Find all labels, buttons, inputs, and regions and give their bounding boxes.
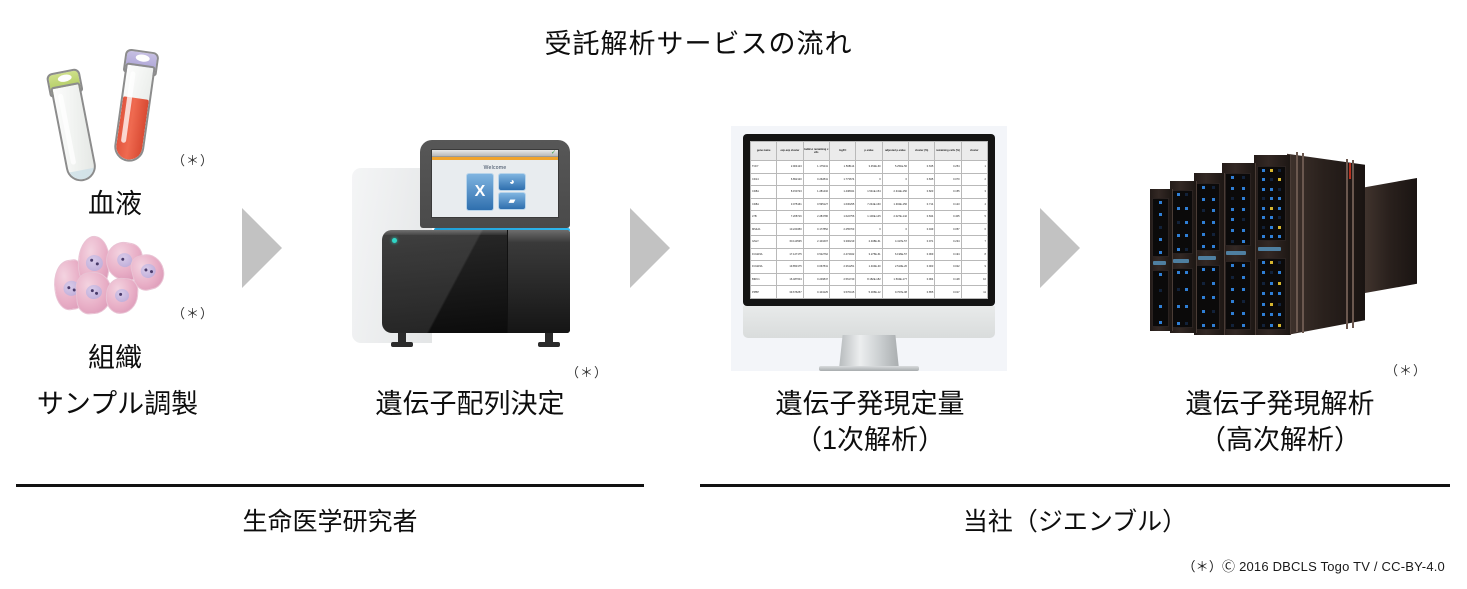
table-cell: 2.408E-61 xyxy=(856,236,882,249)
table-cell: 2.255763 xyxy=(829,223,855,236)
table-cell: 1.281432 xyxy=(803,186,829,199)
table-cell: 1 xyxy=(961,161,987,174)
table-cell: 0.855 xyxy=(908,286,934,299)
table-cell: 0 xyxy=(882,173,908,186)
table-cell: 0.104125 xyxy=(803,286,829,299)
table-cell: 5 xyxy=(961,211,987,224)
table-cell: 11 xyxy=(961,286,987,299)
rack-panel-lower xyxy=(1225,261,1251,330)
table-cell: 3.452E-60 xyxy=(856,161,882,174)
page-title: 受託解析サービスの流れ xyxy=(0,22,1467,61)
slide-canvas: 受託解析サービスの流れ （＊） 血液 xyxy=(0,0,1467,589)
table-cell: 0.194 xyxy=(935,248,961,261)
table-row: BIRC116.4876040.2468472.5617408.182E-182… xyxy=(751,273,988,286)
server-racks-illustration xyxy=(1150,145,1430,365)
table-cell: 3 xyxy=(961,186,987,199)
divider-company xyxy=(700,484,1450,487)
table-cell: 1.404E-30 xyxy=(856,261,882,274)
table-cell: 7.208716 xyxy=(777,211,803,224)
table-row: CD8A3.0751610.5951271.6302957.244E-1601.… xyxy=(751,198,988,211)
screen-accent-bar xyxy=(432,157,558,160)
table-row: MS4A110.2204500.1778522.255763000.9490.0… xyxy=(751,223,988,236)
step-label-sample-prep: サンプル調製 xyxy=(10,386,225,422)
table-cell: 0.595127 xyxy=(803,198,829,211)
monitor-bezel: gene nameexp.exp clusterbulk/sc remainin… xyxy=(743,134,995,306)
step-sublabel-expression-analysis: （高次解析） xyxy=(1155,422,1405,458)
dna-helix-icon[interactable]: X xyxy=(466,173,494,211)
step-sublabel-quantification: （1次解析） xyxy=(745,422,995,458)
tissue-cells-illustration xyxy=(48,232,176,318)
table-row: CD146.8921200.2628411.773674000.8450.070… xyxy=(751,173,988,186)
cell-nucleus xyxy=(85,284,102,299)
nucleolus-dot xyxy=(90,259,93,262)
table-cell: 1.541E-154 xyxy=(856,186,882,199)
table-col-header-7: remaining cells (%) xyxy=(935,142,961,161)
table-cell: 2 xyxy=(961,173,987,186)
table-cell: TCF7 xyxy=(751,161,777,174)
table-cell: 5.251E-56 xyxy=(882,161,908,174)
table-cell: 10 xyxy=(961,273,987,286)
blood-asterisk-mark: （＊） xyxy=(172,150,214,169)
table-cell: PPBP xyxy=(751,286,777,299)
tube-fill-blood xyxy=(115,96,149,161)
table-cell: 10.220450 xyxy=(777,223,803,236)
table-cell: 0.254 xyxy=(935,161,961,174)
table-cell: 0.949 xyxy=(908,223,934,236)
table-cell: 0.246847 xyxy=(803,273,829,286)
table-col-header-4: p-value xyxy=(856,142,882,161)
table-cell: 1.622756 xyxy=(829,211,855,224)
table-cell: 1.302E-156 xyxy=(882,198,908,211)
table-cell: 1.773674 xyxy=(829,173,855,186)
cell-nucleus xyxy=(85,254,104,272)
table-cell: 9 xyxy=(961,261,987,274)
rack-stripe xyxy=(1352,160,1354,328)
rack-panel-lower xyxy=(1257,258,1286,330)
table-cell: 0.022 xyxy=(935,261,961,274)
nucleolus-dot xyxy=(150,270,154,274)
table-cell: 2.561740 xyxy=(829,273,855,286)
step-label-quantification: 遺伝子発現定量 xyxy=(745,386,995,422)
sequencer-asterisk-mark: （＊） xyxy=(566,362,608,381)
table-cell: FCGR3A xyxy=(751,261,777,274)
credit-notice: （＊）Ⓒ 2016 DBCLS Togo TV / CC-BY-4.0 xyxy=(1182,556,1445,575)
table-cell: GNLY xyxy=(751,236,777,249)
table-cell: 60.113535 xyxy=(777,236,803,249)
rack-panel-upper xyxy=(1172,190,1193,254)
table-cell: 0.070 xyxy=(935,173,961,186)
table-cell: 0.262841 xyxy=(803,173,829,186)
rack-handle xyxy=(1258,247,1280,251)
table-cell: 1.100E-145 xyxy=(856,211,882,224)
table-cell: CD14 xyxy=(751,173,777,186)
table-cell: BIRC1 xyxy=(751,273,777,286)
cell-nucleus xyxy=(115,289,130,303)
table-cell: 0.969 xyxy=(908,248,934,261)
table-cell: 6.196E-57 xyxy=(882,248,908,261)
table-row: GNLY60.1135352.1016073.3002192.408E-614.… xyxy=(751,236,988,249)
table-row: PPBP39.6762570.1041253.5764155.305E-129.… xyxy=(751,286,988,299)
server-rack-2 xyxy=(1222,163,1256,335)
table-cell: 0.177852 xyxy=(803,223,829,236)
server-rack-1 xyxy=(1254,155,1291,335)
table-cell: 0.234 xyxy=(935,236,961,249)
table-cell: 8.182E-182 xyxy=(856,273,882,286)
table-cell: 0.903 xyxy=(908,261,934,274)
table-cell: 0.522762 xyxy=(803,248,829,261)
tissue-asterisk-mark: （＊） xyxy=(172,303,214,322)
table-cell: 0.123 xyxy=(935,198,961,211)
table-cell: 0 xyxy=(882,223,908,236)
rack-panel-lower xyxy=(1196,265,1220,330)
table-cell: 0 xyxy=(856,173,882,186)
table-header-row: gene nameexp.exp clusterbulk/sc remainin… xyxy=(751,142,988,161)
blood-label: 血液 xyxy=(40,186,190,222)
screen-tiles: X ◕ ▰ xyxy=(432,173,558,213)
table-cell: 1.504E-177 xyxy=(882,273,908,286)
server-rack-back xyxy=(1365,178,1417,293)
rack-stripe xyxy=(1296,152,1298,332)
table-cell: 2.101607 xyxy=(803,236,829,249)
results-monitor-illustration: gene nameexp.exp clusterbulk/sc remainin… xyxy=(731,126,1007,371)
table-col-header-3: logFC xyxy=(829,142,855,161)
rack-handle xyxy=(1198,256,1217,260)
table-cell: 2.284786 xyxy=(803,211,829,224)
table-cell: 0.128 xyxy=(935,273,961,286)
table-cell: 0.971 xyxy=(908,236,934,249)
owner-label-company: 当社（ジエンブル） xyxy=(700,502,1450,538)
table-row: TCF72.9041231.1752411.5081143.452E-605.2… xyxy=(751,161,988,174)
table-cell: 3.300219 xyxy=(829,236,855,249)
table-cell: 0.845 xyxy=(908,173,934,186)
table-col-header-5: adjusted p-value xyxy=(882,142,908,161)
table-cell: 3.576415 xyxy=(829,286,855,299)
table-cell: 0.964 xyxy=(908,273,934,286)
table-cell: 7.244E-160 xyxy=(856,198,882,211)
table-cell: LTB xyxy=(751,211,777,224)
table-col-header-6: cluster (%) xyxy=(908,142,934,161)
table-row: FCGR3A17.1271750.5227622.4749423.275E-61… xyxy=(751,248,988,261)
owner-label-researcher: 生命医学研究者 xyxy=(16,502,644,538)
nucleolus-dot xyxy=(119,293,122,296)
table-row: FCGR3A19.8531750.0678412.3612511.404E-30… xyxy=(751,261,988,274)
table-cell: 0.635 xyxy=(908,161,934,174)
monitor-chin xyxy=(743,306,995,338)
table-cell: 2.474942 xyxy=(829,248,855,261)
table-cell: 0.714 xyxy=(908,198,934,211)
rack-panel-upper xyxy=(1152,198,1170,258)
test-tube-purple-icon xyxy=(112,48,157,163)
table-cell: 2.361251 xyxy=(829,261,855,274)
table-cell: 2.510E-26 xyxy=(882,261,908,274)
table-cell: 0.823 xyxy=(908,186,934,199)
blood-sample-illustration xyxy=(52,48,182,173)
table-cell: CD8A xyxy=(751,198,777,211)
server-rack-5 xyxy=(1150,189,1173,331)
table-cell: 6 xyxy=(961,223,987,236)
table-cell: 16.487604 xyxy=(777,273,803,286)
servers-asterisk-mark: （＊） xyxy=(1385,360,1427,379)
table-cell: 4 xyxy=(961,198,987,211)
tube-body xyxy=(50,82,98,184)
rack-handle xyxy=(1226,251,1246,255)
table-cell: 0.017 xyxy=(935,286,961,299)
rack-stripe xyxy=(1346,159,1348,329)
sample-icon[interactable]: ◕ xyxy=(498,173,526,191)
table-cell: 3.075161 xyxy=(777,198,803,211)
table-cell: 1.508114 xyxy=(829,161,855,174)
table-cell: 39.676257 xyxy=(777,286,803,299)
cell-shape xyxy=(105,277,139,315)
test-tube-green-icon xyxy=(48,68,99,184)
table-cell: 3.275E-61 xyxy=(856,248,882,261)
flow-arrow-1-icon xyxy=(242,208,282,288)
nucleolus-dot xyxy=(91,289,94,292)
sequencer-touchscreen[interactable]: ✓ Welcome X ◕ ▰ xyxy=(431,149,559,218)
table-col-header-8: cluster xyxy=(961,142,987,161)
table-cell: 2.904123 xyxy=(777,161,803,174)
sequencer-gloss xyxy=(382,230,542,333)
nucleolus-dot xyxy=(144,268,148,272)
rack-panel-lower xyxy=(1152,270,1170,327)
nucleolus-dot xyxy=(96,262,99,265)
nucleolus-dot xyxy=(95,292,98,295)
rack-handle xyxy=(1153,261,1167,265)
table-cell: 2.341E-150 xyxy=(882,186,908,199)
table-cell: 2.027E-142 xyxy=(882,211,908,224)
table-row: LTB7.2087162.2847861.6227561.100E-1452.0… xyxy=(751,211,988,224)
nucleolus-dot xyxy=(67,286,70,289)
nucleolus-dot xyxy=(121,258,124,261)
table-col-header-0: gene name xyxy=(751,142,777,161)
monitor-stand-neck xyxy=(839,335,899,369)
table-cell: 0.405 xyxy=(935,211,961,224)
monitor-stand-base xyxy=(819,366,919,371)
sequencer-foot-left xyxy=(398,333,406,347)
table-col-header-2: bulk/sc remaining cells xyxy=(803,142,829,161)
divider-researcher xyxy=(16,484,644,487)
table-cell: 5.305E-12 xyxy=(856,286,882,299)
rack-alert-stripe xyxy=(1349,163,1351,179)
flow-arrow-2-icon xyxy=(630,208,670,288)
server-rack-3 xyxy=(1194,173,1225,335)
table-cell: 17.127175 xyxy=(777,248,803,261)
table-row: CD8A8.1507231.2814321.4380411.541E-1542.… xyxy=(751,186,988,199)
rack-panel-lower xyxy=(1172,268,1193,329)
tissue-label: 組織 xyxy=(40,340,190,376)
table-cell: MS4A1 xyxy=(751,223,777,236)
screen-titlebar: ✓ xyxy=(432,150,558,157)
table-cell: 0.057 xyxy=(935,223,961,236)
step-label-expression-analysis: 遺伝子発現解析 xyxy=(1155,386,1405,422)
helix-glyph: X xyxy=(475,184,486,200)
table-cell: 8.150723 xyxy=(777,186,803,199)
table-cell: 1.630295 xyxy=(829,198,855,211)
table-cell: FCGR3A xyxy=(751,248,777,261)
table-cell: 8 xyxy=(961,248,987,261)
expression-results-table: gene nameexp.exp clusterbulk/sc remainin… xyxy=(750,141,988,299)
sequencer-foot-right xyxy=(545,333,553,347)
flow-arrow-3-icon xyxy=(1040,208,1080,288)
table-cell: 0.844 xyxy=(908,211,934,224)
table-cell: 1.175241 xyxy=(803,161,829,174)
screen-welcome-text: Welcome xyxy=(432,165,558,171)
sequencer-power-led-icon xyxy=(392,238,397,243)
table-cell: 9.707E-08 xyxy=(882,286,908,299)
sequencer-body xyxy=(382,230,570,333)
rack-stripe xyxy=(1302,153,1304,333)
step-label-sequencing: 遺伝子配列決定 xyxy=(355,386,585,422)
dna-sequencer-illustration: ✓ Welcome X ◕ ▰ xyxy=(350,140,585,365)
report-icon[interactable]: ▰ xyxy=(498,192,526,210)
sample-glyph: ◕ xyxy=(509,178,514,187)
table-cell: 0.155 xyxy=(935,186,961,199)
cell-nucleus xyxy=(139,262,157,279)
table-cell: 4.417E-57 xyxy=(882,236,908,249)
rack-panel-upper xyxy=(1196,183,1220,251)
tube-gloss xyxy=(58,93,77,165)
table-cell: 19.853175 xyxy=(777,261,803,274)
table-cell: CD8A xyxy=(751,186,777,199)
tube-fill-clear xyxy=(69,168,96,182)
tube-body xyxy=(112,62,155,163)
report-glyph: ▰ xyxy=(509,197,516,206)
table-cell: 6.892120 xyxy=(777,173,803,186)
rack-panel-upper xyxy=(1225,173,1251,245)
table-cell: 7 xyxy=(961,236,987,249)
table-cell: 0.067841 xyxy=(803,261,829,274)
table-col-header-1: exp.exp cluster xyxy=(777,142,803,161)
check-icon: ✓ xyxy=(551,150,556,156)
page-title-text: 受託解析サービスの流れ xyxy=(545,22,853,61)
table-cell: 1.438041 xyxy=(829,186,855,199)
table-cell: 0 xyxy=(856,223,882,236)
rack-panel-upper xyxy=(1257,166,1286,242)
server-rack-4 xyxy=(1170,181,1197,333)
rack-handle xyxy=(1173,259,1189,263)
